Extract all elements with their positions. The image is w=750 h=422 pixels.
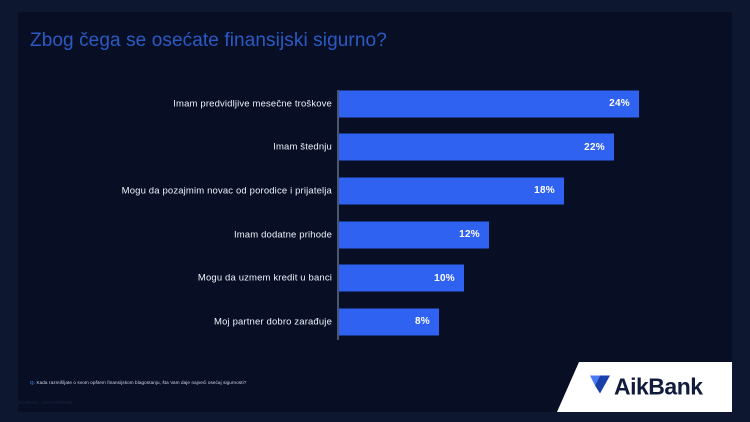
chart-bar[interactable]: 10% xyxy=(339,265,464,292)
chart-row: Imam štednju22% xyxy=(18,126,732,170)
chart-category-label: Imam štednju xyxy=(273,142,332,153)
chart-row: Mogu da pozajmim novac od porodice i pri… xyxy=(18,169,732,213)
bar-chart: Imam predvidljive mesečne troškove24%Ima… xyxy=(18,82,732,344)
chart-category-label: Mogu da pozajmim novac od porodice i pri… xyxy=(122,185,332,196)
chart-bar[interactable]: 22% xyxy=(339,134,614,161)
chart-bar-value: 18% xyxy=(534,185,555,196)
chart-bar-wrap: 10% xyxy=(339,265,464,292)
chart-row: Moj partner dobro zarađuje8% xyxy=(18,300,732,344)
chart-bar-wrap: 22% xyxy=(339,134,614,161)
chart-bar[interactable]: 12% xyxy=(339,221,489,248)
chart-category-label: Imam dodatne prihode xyxy=(234,229,332,240)
chart-row: Imam dodatne prihode12% xyxy=(18,213,732,257)
footnote-text: Kada razmišljate o svom opštem finansijs… xyxy=(36,380,246,385)
chart-bar-wrap: 12% xyxy=(339,221,489,248)
slide-canvas: Zbog čega se osećate finansijski sigurno… xyxy=(0,0,750,422)
chart-category-label: Mogu da uzmem kredit u banci xyxy=(198,273,332,284)
chart-bar-wrap: 8% xyxy=(339,308,439,335)
footnote-marker: Q. xyxy=(30,380,35,385)
logo-panel: AikBank xyxy=(557,362,732,412)
chart-category-label: Imam predvidljive mesečne troškove xyxy=(173,98,332,109)
page-title: Zbog čega se osećate finansijski sigurno… xyxy=(30,30,387,52)
source-credit: SOURCE: UGOVORENO xyxy=(18,400,73,405)
chart-bar[interactable]: 24% xyxy=(339,90,639,117)
chart-bar-wrap: 24% xyxy=(339,90,639,117)
slide-panel: Zbog čega se osećate finansijski sigurno… xyxy=(18,12,732,412)
chart-bar-value: 22% xyxy=(584,142,605,153)
chart-bar-value: 10% xyxy=(434,273,455,284)
logo: AikBank xyxy=(589,375,703,400)
logo-text: AikBank xyxy=(614,376,703,399)
triangle-chevron-icon xyxy=(589,375,611,400)
chart-bar[interactable]: 18% xyxy=(339,177,564,204)
chart-bar-value: 12% xyxy=(459,229,480,240)
footnote: Q. Kada razmišljate o svom opštem finans… xyxy=(30,380,246,385)
chart-row: Imam predvidljive mesečne troškove24% xyxy=(18,82,732,126)
chart-row: Mogu da uzmem kredit u banci10% xyxy=(18,256,732,300)
chart-bar-value: 24% xyxy=(609,98,630,109)
chart-bar-value: 8% xyxy=(415,316,430,327)
chart-bar[interactable]: 8% xyxy=(339,308,439,335)
chart-bar-wrap: 18% xyxy=(339,177,564,204)
chart-category-label: Moj partner dobro zarađuje xyxy=(214,316,332,327)
